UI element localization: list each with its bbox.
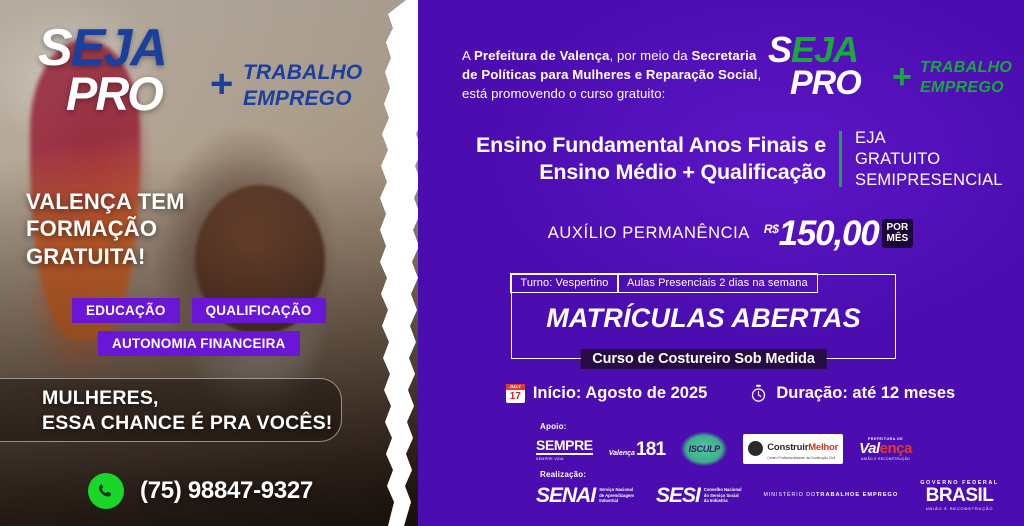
duration-item: Duração: até 12 meses: [749, 384, 955, 403]
callout-text: MULHERES, ESSA CHANCE É PRA VOCÊS!: [42, 386, 332, 437]
logo-valenca-181: Valença 181: [609, 440, 666, 459]
start-date-text: Início: Agosto de 2025: [533, 384, 708, 403]
logo-sempre-sub: SEMPRE VIDA: [536, 457, 564, 461]
ministerio-line-2: TRABALHO: [816, 492, 855, 500]
price-period-line-2: MÊS: [887, 234, 909, 245]
calendar-icon: JULY 17: [506, 384, 525, 403]
calendar-icon-day: 17: [506, 390, 525, 403]
logo-senai-name: SENAI: [536, 485, 595, 506]
intro-prefeitura: Prefeitura de Valença: [474, 48, 610, 63]
callout-line-1: MULHERES,: [42, 386, 332, 411]
stopwatch-icon: [749, 384, 768, 403]
logo-right-trabalho-emprego: TRABALHO EMPREGO: [920, 58, 1012, 97]
logo-senai: SENAI Serviço Nacional de Aprendizagem I…: [536, 485, 634, 506]
logo-sesi: SESI Conselho Nacional do Serviço Social…: [656, 485, 742, 506]
governo-brasil: BRASIL: [926, 486, 994, 506]
right-info-panel: A Prefeitura de Valença, por meio da Sec…: [418, 0, 1024, 526]
prefeitura-bottom: UNIÃO E RECONSTRUÇÃO: [861, 457, 910, 461]
logo-right-trabalho-line: TRABALHO: [920, 58, 1012, 78]
modality-gratuito: GRATUITO: [855, 149, 1003, 170]
logo-isculp-name: ISCULP: [689, 444, 720, 454]
price-row: AUXÍLIO PERMANÊNCIA R$ 150,00 POR MÊS: [458, 216, 1003, 251]
logo-sempre-name: SEMPRE: [536, 438, 593, 455]
modality-semipresencial: SEMIPRESENCIAL: [855, 170, 1003, 191]
logo-emprego-line: EMPREGO: [243, 86, 362, 112]
chip-educacao: EDUCAÇÃO: [72, 298, 180, 323]
logo-trabalho-line: TRABALHO: [243, 60, 362, 86]
logo-181-number: 181: [636, 440, 665, 459]
logo-prefeitura-valenca: PREFEITURA DE Valença UNIÃO E RECONSTRUÇ…: [859, 437, 912, 461]
cm-word-construir: Construir: [767, 442, 808, 453]
chip-autonomia-financeira: AUTONOMIA FINANCEIRA: [98, 331, 300, 356]
headline-line-1: VALENÇA TEM: [26, 188, 185, 215]
logo-sempre: SEMPRE SEMPRE VIDA: [536, 438, 593, 461]
price-label: AUXÍLIO PERMANÊNCIA: [548, 224, 750, 243]
realizacao-logo-row: SENAI Serviço Nacional de Aprendizagem I…: [536, 480, 999, 511]
prefeitura-enca: ença: [880, 440, 912, 457]
logo-sesi-name: SESI: [656, 485, 700, 506]
course-info-row: JULY 17 Início: Agosto de 2025 Duração: …: [458, 384, 1003, 403]
logo-right-plus-sign: +: [892, 60, 912, 94]
course-title-line-1: Ensino Fundamental Anos Finais e: [458, 132, 826, 159]
enrollment-box: Turno: Vespertino Aulas Presenciais 2 di…: [511, 274, 896, 359]
logo-right-seja-text: SEJA: [768, 32, 858, 68]
logo-sesi-sub: Conselho Nacional do Serviço Social da I…: [704, 487, 742, 504]
apoio-logo-row: SEMPRE SEMPRE VIDA Valença 181 ISCULP Co…: [536, 432, 912, 466]
logo-plus-sign: +: [210, 64, 233, 104]
prefeitura-name: Valença: [859, 441, 912, 456]
course-modality: EJA GRATUITO SEMIPRESENCIAL: [855, 128, 1003, 190]
intro-t1: A: [462, 48, 474, 63]
logo-right-pro-text: PRO: [790, 66, 861, 100]
construir-melhor-text: ConstruirMelhor Centro Profissionalizant…: [767, 437, 838, 460]
duration-text: Duração: até 12 meses: [776, 384, 955, 403]
logo-governo-federal: GOVERNO FEDERAL BRASIL UNIÃO E RECONSTRU…: [920, 480, 999, 511]
callout-line-2: ESSA CHANCE É PRA VOCÊS!: [42, 411, 332, 436]
course-title-row: Ensino Fundamental Anos Finais e Ensino …: [458, 128, 1003, 190]
chip-row-bottom: AUTONOMIA FINANCEIRA: [98, 331, 386, 356]
senai-sub-1: Serviço Nacional: [599, 487, 634, 493]
realizacao-label: Realização:: [540, 470, 586, 479]
course-divider: [839, 131, 842, 187]
course-title: Ensino Fundamental Anos Finais e Ensino …: [458, 132, 826, 187]
headline-line-2: FORMAÇÃO: [26, 215, 185, 242]
intro-t2: , por meio da: [609, 48, 691, 63]
whatsapp-phone-icon[interactable]: [88, 473, 124, 509]
left-headline: VALENÇA TEM FORMAÇÃO GRATUITA!: [26, 188, 185, 270]
benefit-chips: EDUCAÇÃO QUALIFICAÇÃO AUTONOMIA FINANCEI…: [26, 298, 386, 356]
enrollment-subtitle: Curso de Costureiro Sob Medida: [580, 349, 827, 369]
tag-aulas: Aulas Presenciais 2 dias na semana: [617, 273, 818, 293]
price-period-badge: POR MÊS: [882, 219, 914, 248]
promotional-banner: SEJA PRO + TRABALHO EMPREGO VALENÇA TEM …: [0, 0, 1024, 526]
sesi-sub-1: Conselho Nacional: [704, 487, 742, 493]
price-currency: R$: [764, 222, 779, 236]
tag-turno: Turno: Vespertino: [510, 273, 618, 293]
apoio-label: Apoio:: [540, 422, 567, 431]
logo-isculp: ISCULP: [681, 432, 727, 466]
logo-trabalho-emprego: TRABALHO EMPREGO: [243, 60, 362, 113]
sponsor-logos: Apoio: SEMPRE SEMPRE VIDA Valença 181 IS…: [418, 416, 1024, 526]
governo-bottom: UNIÃO E RECONSTRUÇÃO: [926, 506, 994, 511]
logo-ministerio-trabalho: MINISTÉRIO DO TRABALHO E EMPREGO: [764, 492, 899, 500]
construir-melhor-mark: [748, 441, 763, 456]
headline-line-3: GRATUITA!: [26, 243, 185, 270]
ministerio-line-1: MINISTÉRIO DO: [764, 492, 816, 499]
logo-right-letter-s: S: [768, 29, 791, 70]
start-date-item: JULY 17 Início: Agosto de 2025: [506, 384, 708, 403]
enrollment-title: MATRÍCULAS ABERTAS: [512, 305, 895, 332]
course-title-line-2: Ensino Médio + Qualificação: [458, 159, 826, 186]
contact-phone[interactable]: (75) 98847-9327: [88, 473, 313, 509]
sesi-sub-3: da Indústria: [704, 498, 742, 504]
left-photo-panel: SEJA PRO + TRABALHO EMPREGO VALENÇA TEM …: [0, 0, 418, 526]
logo-right-emprego-line: EMPREGO: [920, 78, 1012, 98]
construir-melhor-title: ConstruirMelhor: [767, 442, 838, 453]
ministerio-line-3: E EMPREGO: [855, 492, 898, 500]
seja-pro-logo-right: SEJA PRO + TRABALHO EMPREGO: [768, 32, 1018, 118]
senai-sub-3: Industrial: [599, 498, 634, 504]
chip-qualificacao: QUALIFICAÇÃO: [192, 298, 326, 323]
price-period-line-1: POR: [887, 223, 909, 234]
logo-construir-melhor: ConstruirMelhor Centro Profissionalizant…: [743, 434, 843, 463]
cm-word-melhor: Melhor: [808, 442, 838, 453]
logo-pro-text: PRO: [66, 70, 162, 117]
enrollment-tags: Turno: Vespertino Aulas Presenciais 2 di…: [510, 273, 817, 293]
price-value: 150,00: [779, 216, 879, 251]
chip-row-top: EDUCAÇÃO QUALIFICAÇÃO: [72, 298, 386, 323]
construir-melhor-sub: Centro Profissionalizante da Construção …: [767, 456, 838, 460]
logo-senai-sub: Serviço Nacional de Aprendizagem Industr…: [599, 487, 634, 504]
seja-pro-logo-left: SEJA PRO + TRABALHO EMPREGO: [38, 22, 368, 132]
modality-eja: EJA: [855, 128, 1003, 149]
prefeitura-v: V: [859, 440, 868, 457]
prefeitura-al: al: [868, 440, 880, 457]
logo-181-valenca: Valença: [609, 450, 635, 457]
phone-number[interactable]: (75) 98847-9327: [140, 477, 313, 505]
intro-paragraph: A Prefeitura de Valença, por meio da Sec…: [462, 47, 762, 103]
